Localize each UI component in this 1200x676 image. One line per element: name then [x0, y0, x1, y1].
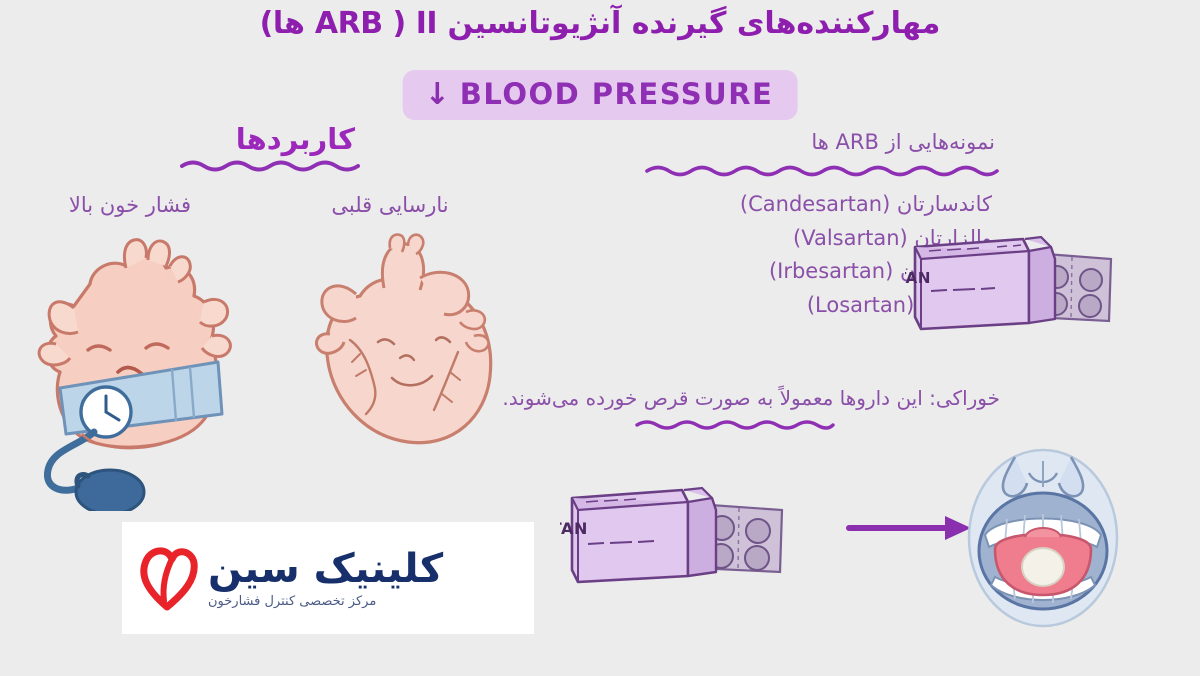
down-arrow-icon: ↓ [425, 80, 450, 110]
open-mouth-with-pill-illustration [955, 443, 1130, 628]
list-item: کاندسارتان (Candesartan) [632, 192, 992, 218]
page-title: مهارکننده‌های گیرنده آنژیوتانسین II ( AR… [0, 6, 1200, 41]
squiggle-underline-oral-note [635, 418, 835, 431]
blood-pressure-label: BLOOD PRESSURE [460, 77, 774, 111]
uses-heading: کاربردها [236, 122, 355, 156]
caption-hypertension: فشار خون بالا [20, 193, 240, 217]
blood-pressure-badge: ↓ BLOOD PRESSURE [403, 70, 798, 120]
page-title-text: مهارکننده‌های گیرنده آنژیوتانسین II ( AR… [260, 6, 941, 41]
squiggle-underline-uses [180, 158, 365, 172]
clinic-logo: کلینیک سین مرکز تخصصی کنترل فشارخون [122, 522, 534, 634]
anatomical-heart-illustration [308, 232, 513, 462]
pill-box-label-bottom: LOSARTAN [560, 519, 588, 538]
clinic-name: کلینیک سین [208, 548, 443, 590]
heart-with-blood-pressure-cuff-illustration [22, 236, 252, 511]
oral-administration-note: خوراکی: این داروها معمولاً به صورت قرص خ… [550, 386, 1000, 410]
squiggle-underline-examples [645, 163, 1000, 177]
losartan-box-illustration-bottom: LOSARTAN [560, 478, 840, 593]
heart-ribbon-icon [136, 545, 198, 611]
clinic-subtitle: مرکز تخصصی کنترل فشارخون [208, 594, 376, 609]
caption-heart-failure: نارسایی قلبی [280, 193, 500, 217]
infographic-canvas: مهارکننده‌های گیرنده آنژیوتانسین II ( AR… [0, 0, 1200, 676]
examples-heading: نمونه‌هایی از ARB ها [811, 130, 995, 154]
pill-box-label-top: LOSARTAN [905, 269, 931, 287]
losartan-box-illustration-top: LOSARTAN [905, 225, 1130, 345]
